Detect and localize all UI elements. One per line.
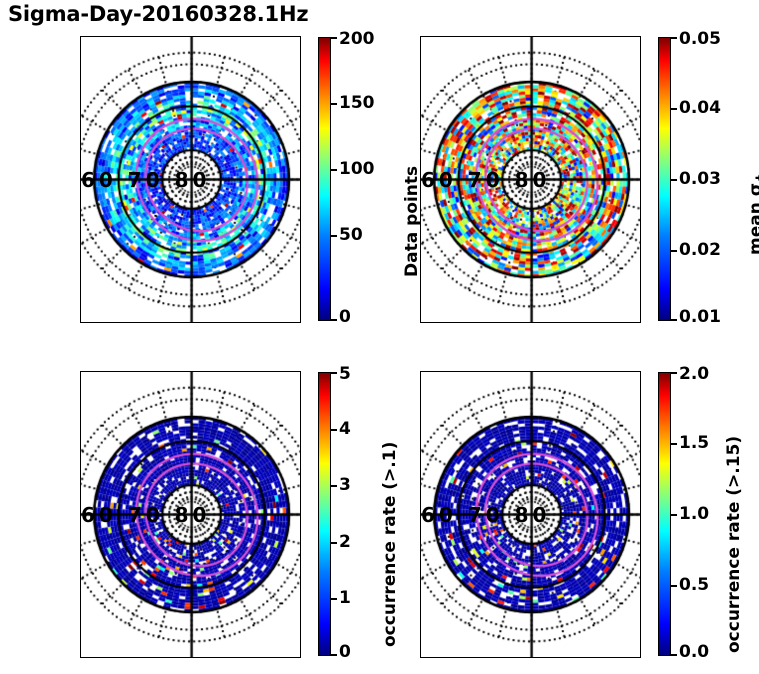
colorbar-gradient-data-points bbox=[318, 37, 331, 321]
colorbar-tick bbox=[671, 179, 677, 181]
colorbar-tick-label: 0.04 bbox=[679, 98, 721, 118]
colorbar-tick bbox=[331, 654, 337, 656]
colorbar-tick bbox=[331, 235, 337, 237]
colorbar-title-text: mean σ bbox=[746, 183, 759, 255]
colorbar-tick-label: 5 bbox=[339, 364, 351, 384]
colorbar-tick-label: 100 bbox=[339, 159, 375, 179]
colorbar-tick-label: 0.01 bbox=[679, 307, 721, 327]
colorbar-tick bbox=[671, 443, 677, 445]
colorbar-tick bbox=[331, 372, 337, 374]
colorbar-title-mean-sigma-phi: mean σϕ bbox=[746, 173, 759, 255]
colorbar-tick-label: 0.0 bbox=[679, 642, 709, 662]
colorbar-title-subscript: ϕ bbox=[754, 173, 759, 183]
colorbar-tick-label: 0.5 bbox=[679, 575, 709, 595]
colorbar-tick-label: 1.5 bbox=[679, 433, 709, 453]
colorbar-tick bbox=[671, 108, 677, 110]
panel-occurrence-rate-0p1: 60 70 80 bbox=[80, 371, 301, 658]
colorbar-title-occurrence-rate-0p1: occurrence rate (>.1) bbox=[380, 442, 400, 647]
colorbar-tick bbox=[331, 429, 337, 431]
colorbar-tick bbox=[331, 598, 337, 600]
colorbar-tick-label: 0.03 bbox=[679, 169, 721, 189]
colorbar-tick bbox=[671, 37, 677, 39]
colorbar-tick-label: 50 bbox=[339, 225, 363, 245]
colorbar-title-data-points: Data points bbox=[402, 166, 422, 277]
colorbar-tick bbox=[331, 103, 337, 105]
colorbar-tick-label: 0 bbox=[339, 642, 351, 662]
colorbar-tick bbox=[331, 37, 337, 39]
colorbar-tick-label: 4 bbox=[339, 419, 351, 439]
polar-plot-mean-sigma-phi bbox=[421, 37, 640, 322]
colorbar-tick bbox=[331, 169, 337, 171]
colorbar-data-points: 200 150 100 50 0 Data points bbox=[318, 37, 331, 321]
colorbar-gradient-occurrence-rate-0p1 bbox=[318, 372, 331, 656]
colorbar-tick-label: 1 bbox=[339, 588, 351, 608]
colorbar-tick bbox=[671, 319, 677, 321]
colorbar-tick-label: 0 bbox=[339, 307, 351, 327]
colorbar-tick bbox=[331, 542, 337, 544]
panel-mean-sigma-phi: 60 70 80 bbox=[420, 36, 641, 323]
colorbar-occurrence-rate-0p1: 5 4 3 2 1 0 occurrence rate (>.1) bbox=[318, 372, 331, 656]
colorbar-tick bbox=[331, 319, 337, 321]
panel-data-points: 60 70 80 bbox=[80, 36, 301, 323]
colorbar-tick bbox=[671, 372, 677, 374]
colorbar-tick bbox=[671, 654, 677, 656]
polar-plot-occurrence-rate-0p15 bbox=[421, 372, 640, 657]
panel-occurrence-rate-0p15: 60 70 80 bbox=[420, 371, 641, 658]
colorbar-gradient-mean-sigma-phi bbox=[658, 37, 671, 321]
colorbar-tick bbox=[671, 250, 677, 252]
colorbar-tick-label: 1.0 bbox=[679, 504, 709, 524]
colorbar-tick-label: 150 bbox=[339, 93, 375, 113]
colorbar-gradient-occurrence-rate-0p15 bbox=[658, 372, 671, 656]
colorbar-tick bbox=[671, 585, 677, 587]
colorbar-tick-label: 2.0 bbox=[679, 364, 709, 384]
colorbar-tick bbox=[331, 485, 337, 487]
colorbar-tick-label: 200 bbox=[339, 29, 375, 49]
colorbar-occurrence-rate-0p15: 2.0 1.5 1.0 0.5 0.0 occurrence rate (>.1… bbox=[658, 372, 671, 656]
colorbar-tick-label: 0.02 bbox=[679, 240, 721, 260]
colorbar-mean-sigma-phi: 0.05 0.04 0.03 0.02 0.01 mean σϕ bbox=[658, 37, 671, 321]
colorbar-title-occurrence-rate-0p15: occurrence rate (>.15) bbox=[724, 436, 744, 653]
colorbar-tick-label: 2 bbox=[339, 532, 351, 552]
polar-plot-occurrence-rate-0p1 bbox=[81, 372, 300, 657]
figure-title: Sigma-Day-20160328.1Hz bbox=[8, 2, 308, 26]
polar-plot-data-points bbox=[81, 37, 300, 322]
colorbar-tick-label: 3 bbox=[339, 475, 351, 495]
colorbar-tick-label: 0.05 bbox=[679, 29, 721, 49]
colorbar-tick bbox=[671, 514, 677, 516]
figure-root: Sigma-Day-20160328.1Hz 60 70 80 200 150 … bbox=[0, 0, 759, 674]
